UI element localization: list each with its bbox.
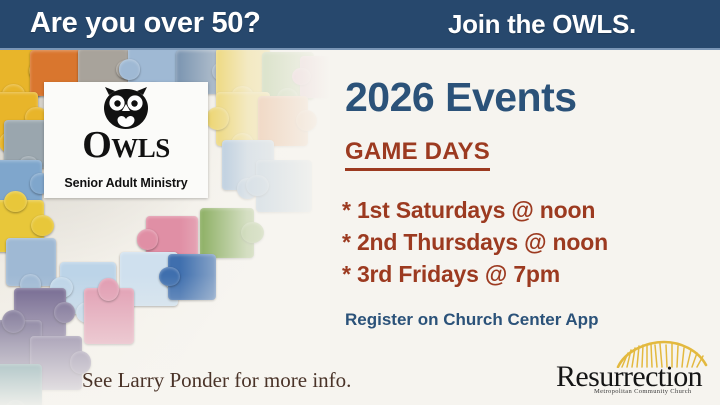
owls-wordmark: OWLS	[44, 126, 208, 167]
header-question-text: Are you over 50?	[30, 7, 261, 40]
event-list: * 1st Saturdays @ noon * 2nd Thursdays @…	[342, 194, 608, 290]
header-call-to-action-text: Join the OWLS.	[448, 9, 636, 40]
owls-wordmark-wls: WLS	[111, 133, 170, 163]
contact-note: See Larry Ponder for more info.	[82, 368, 351, 393]
event-list-item: * 1st Saturdays @ noon	[342, 194, 608, 226]
owls-wordmark-o: O	[82, 124, 111, 166]
events-title: 2026 Events	[345, 74, 577, 121]
puzzle-pieces-background-photo	[0, 0, 330, 405]
event-list-item: * 2nd Thursdays @ noon	[342, 226, 608, 258]
game-days-heading: GAME DAYS	[345, 138, 490, 171]
event-list-item: * 3rd Fridays @ 7pm	[342, 258, 608, 290]
resurrection-subtitle: Metropolitan Community Church	[594, 388, 692, 395]
register-instruction: Register on Church Center App	[345, 310, 598, 330]
owls-logo-card: OWLS Senior Adult Ministry	[44, 82, 208, 198]
owls-tagline: Senior Adult Ministry	[44, 176, 208, 190]
header-banner: Are you over 50? Join the OWLS.	[0, 0, 720, 50]
flyer-slide: Are you over 50? Join the OWLS. OWLS Sen…	[0, 0, 720, 405]
header-divider-rule	[0, 48, 720, 50]
resurrection-church-logo: Resurrection Metropolitan Community Chur…	[556, 338, 716, 400]
